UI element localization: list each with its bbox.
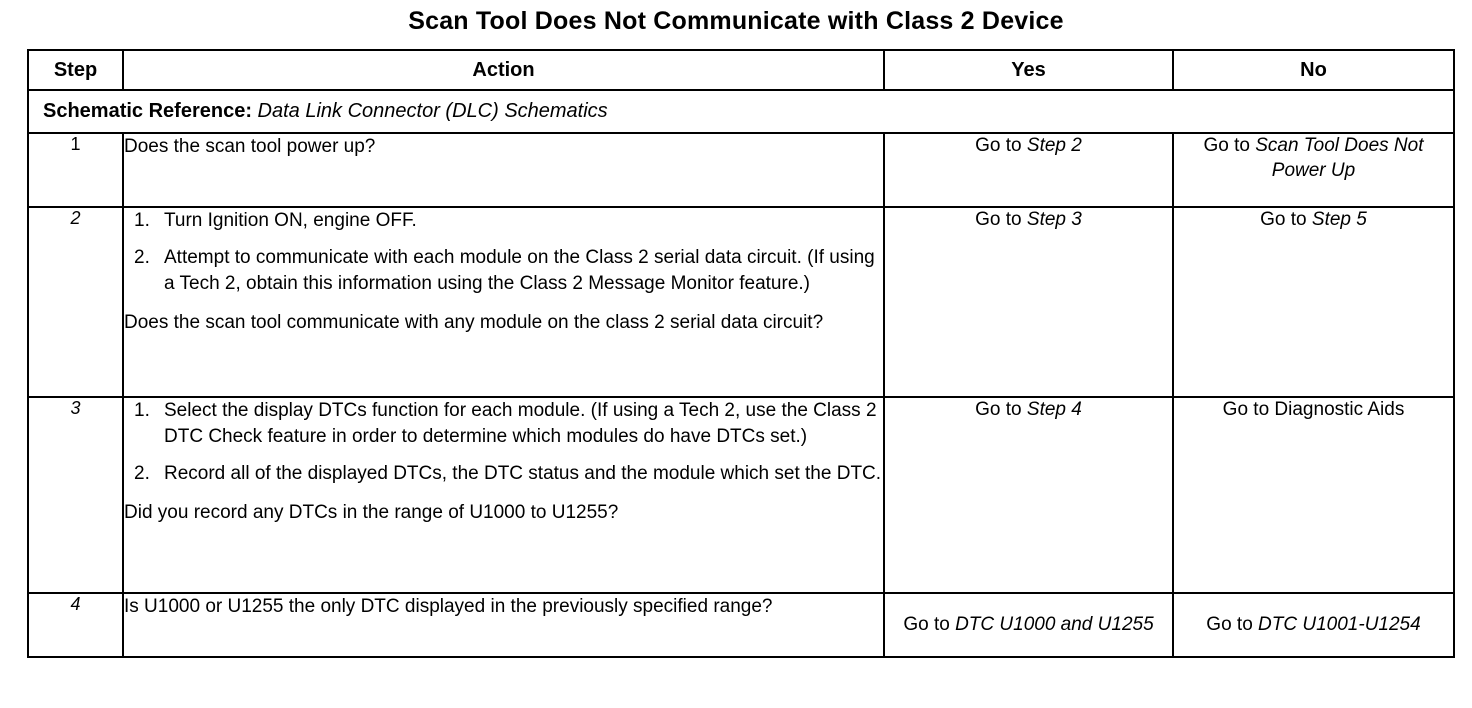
step-number: 1 <box>28 133 123 207</box>
table-row: 2 Turn Ignition ON, engine OFF. Attempt … <box>28 207 1454 397</box>
action-question: Is U1000 or U1255 the only DTC displayed… <box>124 594 883 620</box>
step-number: 3 <box>28 397 123 593</box>
no-prefix: Go to <box>1203 135 1255 156</box>
table-row: 3 Select the display DTCs function for e… <box>28 397 1454 593</box>
action-question: Did you record any DTCs in the range of … <box>124 500 883 526</box>
yes-cell: Go to DTC U1000 and U1255 <box>884 593 1173 657</box>
no-cell: Go to Scan Tool Does Not Power Up <box>1173 133 1454 207</box>
yes-cell: Go to Step 3 <box>884 207 1173 397</box>
no-prefix: Go to <box>1206 614 1258 635</box>
diagnostic-procedure-table: Step Action Yes No Schematic Reference: … <box>27 49 1455 658</box>
list-item: Turn Ignition ON, engine OFF. <box>164 208 883 234</box>
column-header-action: Action <box>123 50 884 90</box>
action-step-list: Turn Ignition ON, engine OFF. Attempt to… <box>124 208 883 298</box>
page-title: Scan Tool Does Not Communicate with Clas… <box>0 8 1472 36</box>
action-question: Does the scan tool communicate with any … <box>124 310 883 336</box>
yes-reference-link[interactable]: DTC U1000 and U1255 <box>955 614 1154 635</box>
diagnostic-procedure-table-container: Step Action Yes No Schematic Reference: … <box>27 49 1453 658</box>
table-header-row: Step Action Yes No <box>28 50 1454 90</box>
schematic-reference-cell: Schematic Reference: Data Link Connector… <box>28 90 1454 133</box>
yes-cell: Go to Step 4 <box>884 397 1173 593</box>
no-cell: Go to Diagnostic Aids <box>1173 397 1454 593</box>
column-header-no: No <box>1173 50 1454 90</box>
yes-cell: Go to Step 2 <box>884 133 1173 207</box>
step-number: 2 <box>28 207 123 397</box>
action-cell: Does the scan tool power up? <box>123 133 884 207</box>
yes-prefix: Go to <box>975 209 1027 230</box>
no-cell: Go to DTC U1001-U1254 <box>1173 593 1454 657</box>
list-item: Select the display DTCs function for eac… <box>164 398 883 450</box>
list-item: Attempt to communicate with each module … <box>164 245 883 297</box>
diagnostic-table-page: Scan Tool Does Not Communicate with Clas… <box>0 0 1472 708</box>
action-cell: Turn Ignition ON, engine OFF. Attempt to… <box>123 207 884 397</box>
no-reference-link[interactable]: Step 5 <box>1312 209 1367 230</box>
schematic-reference-row: Schematic Reference: Data Link Connector… <box>28 90 1454 133</box>
yes-prefix: Go to <box>903 614 955 635</box>
table-row: 4 Is U1000 or U1255 the only DTC display… <box>28 593 1454 657</box>
column-header-step: Step <box>28 50 123 90</box>
no-prefix: Go to <box>1260 209 1312 230</box>
yes-reference-link[interactable]: Step 3 <box>1027 209 1082 230</box>
schematic-reference-value[interactable]: Data Link Connector (DLC) Schematics <box>258 100 608 122</box>
column-header-yes: Yes <box>884 50 1173 90</box>
yes-reference-link[interactable]: Step 2 <box>1027 135 1082 156</box>
no-cell: Go to Step 5 <box>1173 207 1454 397</box>
list-item: Record all of the displayed DTCs, the DT… <box>164 461 883 487</box>
action-question: Does the scan tool power up? <box>124 134 883 160</box>
action-step-list: Select the display DTCs function for eac… <box>124 398 883 488</box>
table-row: 1 Does the scan tool power up? Go to Ste… <box>28 133 1454 207</box>
no-prefix[interactable]: Go to Diagnostic Aids <box>1223 399 1405 420</box>
yes-prefix: Go to <box>975 399 1027 420</box>
step-number: 4 <box>28 593 123 657</box>
schematic-reference-label: Schematic Reference: <box>43 100 252 122</box>
action-cell: Select the display DTCs function for eac… <box>123 397 884 593</box>
yes-reference-link[interactable]: Step 4 <box>1027 399 1082 420</box>
action-cell: Is U1000 or U1255 the only DTC displayed… <box>123 593 884 657</box>
yes-prefix: Go to <box>975 135 1027 156</box>
no-reference-link[interactable]: Scan Tool Does Not Power Up <box>1255 135 1423 181</box>
no-reference-link[interactable]: DTC U1001-U1254 <box>1258 614 1421 635</box>
